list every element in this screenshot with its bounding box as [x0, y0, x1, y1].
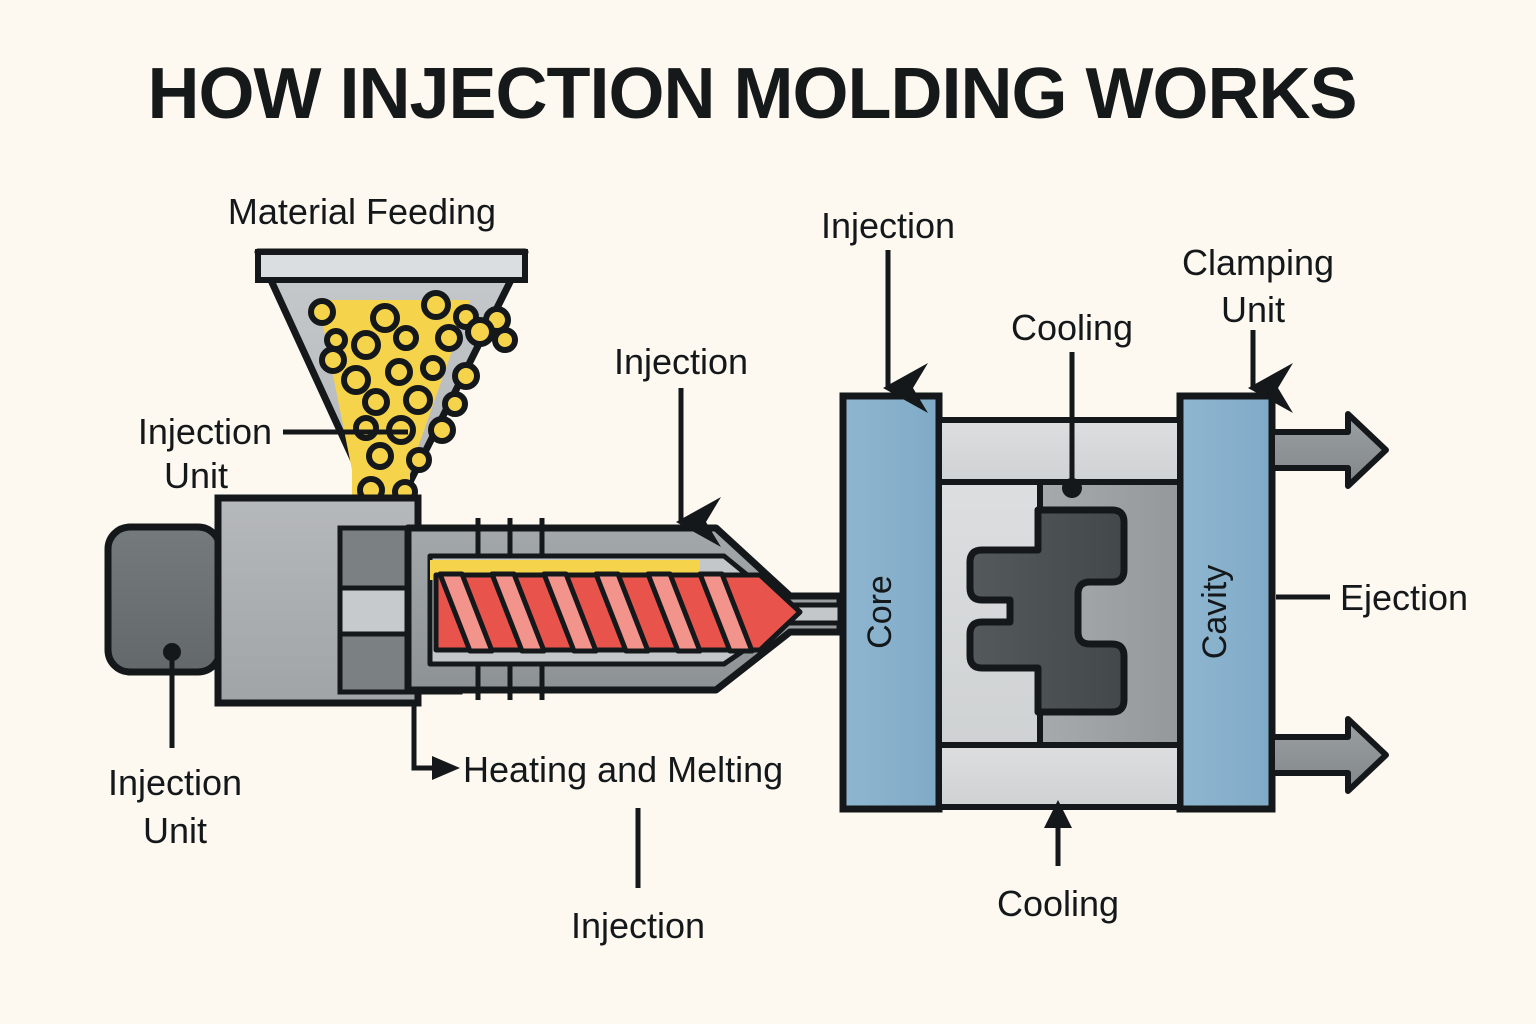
barrel-nozzle-assembly	[408, 518, 840, 700]
leader-dot-cooling-top	[1062, 478, 1082, 498]
mold-clamping-assembly: Core Cavity	[843, 396, 1386, 809]
injection-molding-diagram: HOW INJECTION MOLDING WORKS	[0, 0, 1536, 1024]
ejector-arrow-bottom	[1272, 719, 1386, 791]
label-clamping-unit-2: Unit	[1221, 289, 1285, 330]
label-clamping-unit-1: Clamping	[1182, 242, 1334, 283]
label-injection-unit-bottom-2: Unit	[143, 810, 207, 851]
label-injection-mold: Injection	[821, 205, 955, 246]
leader-dot-motor	[163, 643, 181, 661]
page-title: HOW INJECTION MOLDING WORKS	[148, 54, 1357, 134]
label-cooling-bottom: Cooling	[997, 883, 1119, 924]
label-injection-bottom: Injection	[571, 905, 705, 946]
label-ejection: Ejection	[1340, 577, 1468, 618]
label-cooling-top: Cooling	[1011, 307, 1133, 348]
mold-top-bar	[939, 420, 1180, 482]
label-injection-barrel: Injection	[614, 341, 748, 382]
hopper-cap	[258, 252, 525, 280]
label-material-feeding: Material Feeding	[228, 191, 496, 232]
label-injection-unit-top-2: Unit	[164, 455, 228, 496]
ejector-arrow-top	[1272, 414, 1386, 486]
diagram-canvas: HOW INJECTION MOLDING WORKS	[0, 0, 1536, 1024]
arrowhead-heating-melting	[432, 756, 460, 780]
cavity-platen-label: Cavity	[1196, 565, 1234, 659]
label-injection-unit-top-1: Injection	[138, 411, 272, 452]
label-heating-and-melting: Heating and Melting	[463, 749, 783, 790]
mold-bottom-bar	[939, 745, 1180, 807]
label-injection-unit-bottom-1: Injection	[108, 762, 242, 803]
core-platen-label: Core	[861, 575, 899, 649]
